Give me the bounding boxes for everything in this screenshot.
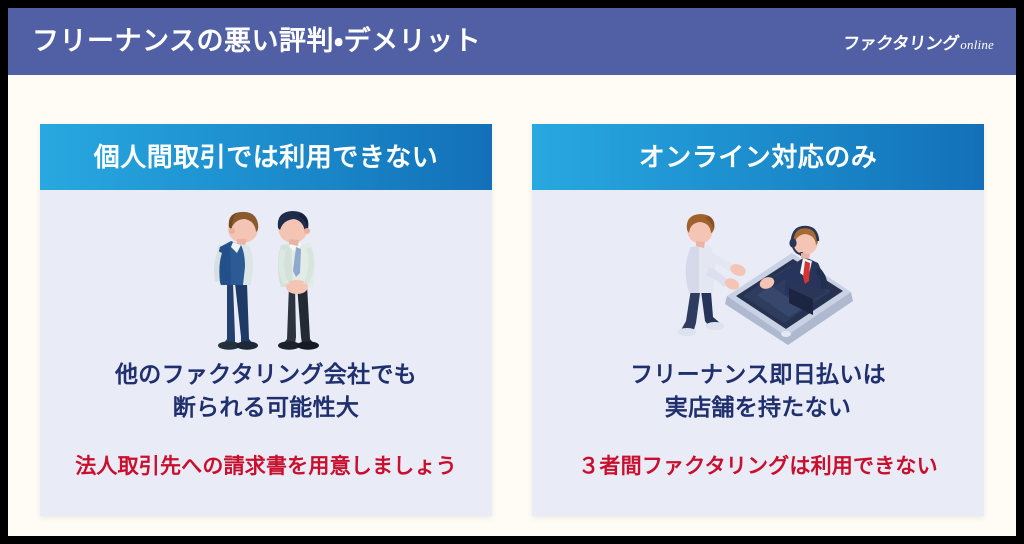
card-grid: 個人間取引では利用できない [8, 75, 1016, 536]
card-header-label: オンライン対応のみ [639, 144, 878, 170]
card-body-line-2: 断られる可能性大 [115, 391, 417, 424]
brand-logo: ファクタリング online [843, 29, 994, 54]
card-body-line-1: 他のファクタリング会社でも [115, 358, 417, 391]
logo-sub-text: online [960, 37, 994, 53]
card-note-text: ３者間ファクタリングは利用できない [532, 450, 984, 480]
logo-main-text: ファクタリング [842, 29, 961, 54]
card-body-line-1: フリーナンス即日払いは [630, 358, 886, 391]
card-note-text: 法人取引先への請求書を用意しましょう [40, 450, 492, 480]
card-body-line-2: 実店舗を持たない [630, 391, 886, 424]
card-header-banner: 個人間取引では利用できない [40, 124, 492, 190]
two-businessmen-bowing-icon [40, 196, 492, 356]
card-body-text: フリーナンス即日払いは 実店舗を持たない [630, 358, 886, 423]
card-header-label: 個人間取引では利用できない [94, 144, 439, 170]
card-header-banner: オンライン対応のみ [532, 124, 984, 190]
slide-root: フリーナンスの悪い評判・デメリット ファクタリング online 個人間取引では… [0, 0, 1024, 544]
slide-titlebar: フリーナンスの悪い評判・デメリット ファクタリング online [8, 8, 1016, 75]
online-consultation-smartphone-icon [532, 196, 984, 356]
card-body-text: 他のファクタリング会社でも 断られる可能性大 [115, 358, 417, 423]
page-title: フリーナンスの悪い評判・デメリット [32, 28, 481, 55]
card-personal-transaction: 個人間取引では利用できない [40, 124, 492, 516]
card-online-only: オンライン対応のみ [532, 124, 984, 516]
